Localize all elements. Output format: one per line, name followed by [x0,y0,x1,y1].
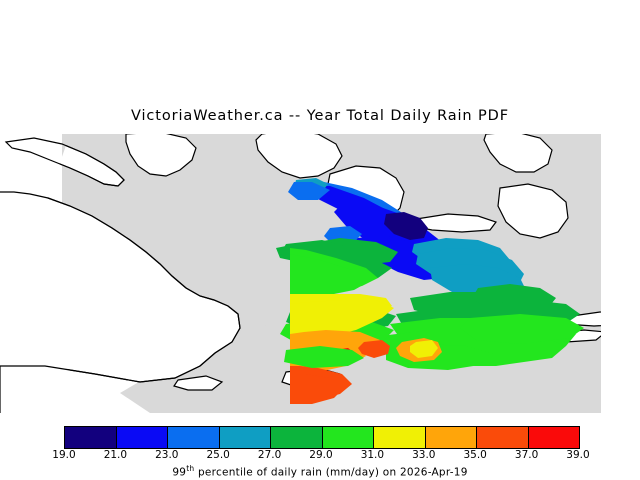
colorbar-segment-3 [220,427,272,448]
colorbar-segment-5 [323,427,375,448]
colorbar-segment-0 [65,427,117,448]
colorbar-legend: 19.0 21.0 23.0 25.0 27.0 29.0 31.0 33.0 … [0,420,640,480]
map-svg [0,128,640,413]
page-title: VictoriaWeather.ca -- Year Total Daily R… [0,108,640,124]
colorbar-segment-8 [477,427,529,448]
caption-rest: percentile of daily rain (mm/day) on 202… [194,467,467,479]
colorbar-tick-labels: 19.0 21.0 23.0 25.0 27.0 29.0 31.0 33.0 … [0,449,640,463]
colorbar-segment-7 [426,427,478,448]
colorbar-gradient [64,426,580,449]
colorbar-caption: 99th percentile of daily rain (mm/day) o… [0,464,640,479]
caption-prefix: 99 [172,467,186,479]
colorbar-segment-4 [271,427,323,448]
colorbar-segment-6 [374,427,426,448]
colorbar-segment-9 [529,427,580,448]
weather-map-page: VictoriaWeather.ca -- Year Total Daily R… [0,0,640,480]
colorbar-tick: 39.0 [548,449,608,461]
colorbar-segment-2 [168,427,220,448]
map-canvas [0,128,640,413]
colorbar-segment-1 [117,427,169,448]
